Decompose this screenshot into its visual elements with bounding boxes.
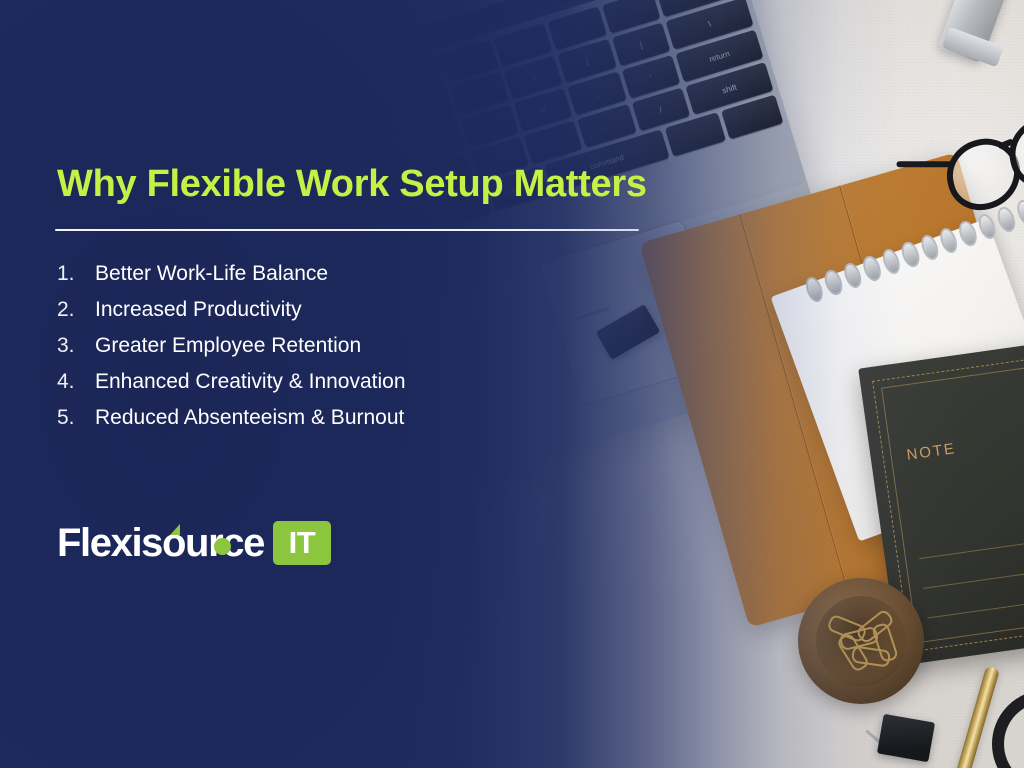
title-divider — [55, 229, 639, 231]
list-item-label: Reduced Absenteeism & Burnout — [95, 406, 404, 430]
list-item-number: 5. — [57, 406, 95, 430]
list-item: 1. Better Work-Life Balance — [57, 262, 406, 298]
page-title: Why Flexible Work Setup Matters — [57, 163, 647, 206]
list-item-label: Enhanced Creativity & Innovation — [95, 370, 406, 394]
benefits-list: 1. Better Work-Life Balance 2. Increased… — [57, 262, 406, 442]
logo-it-badge: IT — [273, 521, 331, 565]
list-item-number: 1. — [57, 262, 95, 286]
list-item: 5. Reduced Absenteeism & Burnout — [57, 406, 406, 442]
logo-wordmark-text: Flexisource — [57, 521, 264, 565]
marketing-slide: delete 7 8 9 0 [ ] \ U I O P ; ' return — [0, 0, 1024, 768]
list-item: 2. Increased Productivity — [57, 298, 406, 334]
list-item-number: 4. — [57, 370, 95, 394]
list-item: 4. Enhanced Creativity & Innovation — [57, 370, 406, 406]
list-item-label: Better Work-Life Balance — [95, 262, 328, 286]
list-item-number: 3. — [57, 334, 95, 358]
list-item: 3. Greater Employee Retention — [57, 334, 406, 370]
slide-content: Why Flexible Work Setup Matters 1. Bette… — [0, 0, 1024, 768]
logo-wordmark: Flexisource — [57, 523, 264, 563]
list-item-label: Increased Productivity — [95, 298, 302, 322]
flexisource-it-logo: Flexisource IT — [57, 519, 331, 567]
logo-o-circle-icon — [214, 538, 231, 555]
list-item-number: 2. — [57, 298, 95, 322]
list-item-label: Greater Employee Retention — [95, 334, 361, 358]
